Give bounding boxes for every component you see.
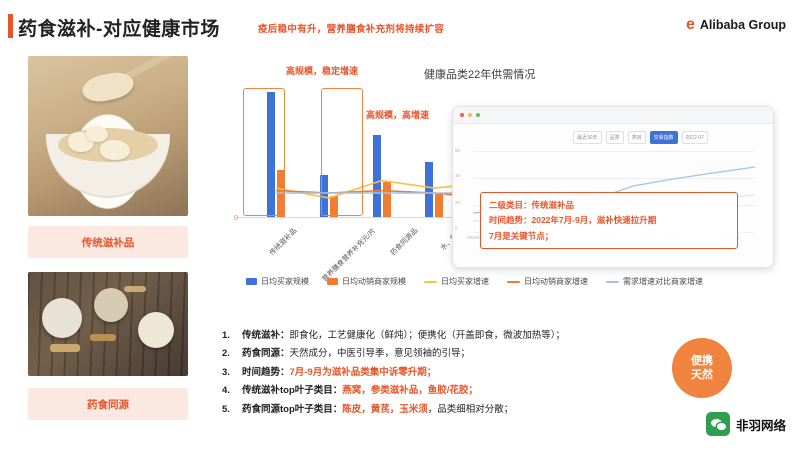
wechat-account-name: 非羽网络 [736,415,786,434]
legend-item[interactable]: 日均动销商家规模 [327,276,406,287]
inset-toolbar-select[interactable]: 最近30天 [573,131,602,144]
soup-chunk [100,140,130,160]
x-tick-text: 药食同源品 [388,226,420,258]
caption-text: 药食同源 [87,397,129,412]
inset-y-label: 60 [455,148,460,153]
brand-logo: e Alibaba Group [686,17,786,33]
insights-list: 1.传统滋补：即食化，工艺健康化（鲜炖）；便携化（开盖即食，微波加热等）；2.药… [222,330,652,422]
insight-number: 1. [222,330,235,342]
insight-text: 传统滋补：即食化，工艺健康化（鲜炖）；便携化（开盖即食，微波加热等）； [242,330,565,342]
callout-line-3: 7月是关键节点； [489,230,729,242]
chart-legend: 日均买家规模日均动销商家规模日均买家增速日均动销商家增速需求增速对比商家增速 [246,276,786,287]
inset-toolbar-tab[interactable]: 品类 [606,131,624,144]
insight-number: 3. [222,367,235,379]
caption-text: 传统滋补品 [82,235,135,250]
close-icon[interactable] [460,113,464,117]
highlight-box-2 [321,88,363,216]
page-subtitle: 疫后稳中有升，营养膳食补充剂将持续扩容 [258,21,444,35]
inset-titlebar [453,107,773,124]
legend-swatch [246,278,257,285]
photo-birds-nest-soup [28,56,188,216]
chart-title: 健康品类22年供需情况 [424,66,535,82]
legend-item[interactable]: 日均动销商家增速 [507,276,588,287]
insight-number: 2. [222,348,235,360]
highlight-label-2: 高规模，高增速 [366,108,429,121]
page-title: 药食滋补-对应健康市场 [18,14,220,41]
legend-label: 日均买家规模 [261,276,309,287]
herb-bowl [138,312,174,348]
insight-callout: 二级类目：传统滋补品 时间趋势：2022年7月-9月，滋补快速拉升期 7月是关键… [480,192,738,249]
wechat-footer: 非羽网络 [706,412,786,436]
callout-line-2: 时间趋势：2022年7月-9月，滋补快速拉升期 [489,214,729,226]
highlight-box-1 [243,88,285,216]
maximize-icon[interactable] [476,113,480,117]
x-tick-text: 传统滋补品 [267,226,299,258]
caption-traditional-tonic: 传统滋补品 [28,226,188,258]
herb-bowl [42,298,82,338]
x-tick-label: 传统滋补品 [250,220,299,238]
insight-number: 5. [222,404,235,416]
herb-slice [90,334,116,341]
legend-item[interactable]: 日均买家增速 [424,276,489,287]
inset-toolbar-select[interactable]: 2022-07 [682,131,708,144]
legend-item[interactable]: 日均买家规模 [246,276,309,287]
inset-y-label: 40 [455,173,460,178]
soup-chunk [86,126,108,142]
inset-toolbar-tab[interactable]: 类目 [628,131,646,144]
insight-row: 5.药食同源top叶子类目：陈皮，黄芪，玉米须，品类细相对分散； [222,404,652,416]
wechat-icon [706,412,730,436]
insight-text: 药食同源：天然成分，中医引导季，意见领袖的引导； [242,348,470,360]
herb-slice [50,344,80,352]
badge-portable-natural: 便携 天然 [672,338,732,398]
badge-line-2: 天然 [691,368,713,382]
insight-highlight: 7月-9月为滋补品类集中诉零升期； [290,367,437,378]
legend-label: 日均动销商家增速 [524,276,588,287]
insight-row: 3.时间趋势：7月-9月为滋补品类集中诉零升期； [222,367,652,379]
legend-label: 日均买家增速 [441,276,489,287]
insight-highlight: 陈皮，黄芪，玉米须 [342,404,428,415]
badge-line-1: 便携 [691,354,713,368]
x-tick-label: 营养膳食营养补充元/片 [299,220,371,238]
minimize-icon[interactable] [468,113,472,117]
insight-text: 传统滋补top叶子类目：燕窝，参类滋补品，鱼胶/花胶； [242,385,478,397]
callout-line-1: 二级类目：传统滋补品 [489,199,729,211]
legend-item[interactable]: 需求增速对比商家增速 [606,276,703,287]
insight-text: 时间趋势：7月-9月为滋补品类集中诉零升期； [242,367,436,379]
spoon-bowl [80,69,136,105]
photo-herbal-ingredients [28,272,188,376]
highlight-label-1: 高规模，稳定增速 [286,64,358,77]
inset-toolbar[interactable]: 最近30天品类类目交易指数2022-07 [573,131,708,144]
title-accent-bar [8,14,13,38]
x-tick-label: 药食同源品 [371,220,420,238]
inset-y-label: 20 [455,200,460,205]
insight-number: 4. [222,385,235,397]
slide-root: 药食滋补-对应健康市场 疫后稳中有升，营养膳食补充剂将持续扩容 e Alibab… [0,0,800,450]
legend-swatch [424,281,437,283]
inset-y-label: 0 [455,225,458,230]
legend-label: 日均动销商家规模 [342,276,406,287]
insight-row: 1.传统滋补：即食化，工艺健康化（鲜炖）；便携化（开盖即食，微波加热等）； [222,330,652,342]
inset-toolbar-tab-active[interactable]: 交易指数 [650,131,678,144]
legend-label: 需求增速对比商家增速 [623,276,703,287]
caption-medicine-food-homology: 药食同源 [28,388,188,420]
herb-bowl [94,288,128,322]
brand-name: Alibaba Group [700,18,786,32]
insight-highlight: 燕窝，参类滋补品，鱼胶/花胶； [342,385,478,396]
legend-swatch [606,281,619,283]
insight-row: 2.药食同源：天然成分，中医引导季，意见领袖的引导； [222,348,652,360]
herb-slice [124,286,146,292]
alibaba-mark-icon: e [686,17,695,33]
legend-swatch [327,278,338,285]
legend-swatch [507,281,520,283]
insight-text: 药食同源top叶子类目：陈皮，黄芪，玉米须，品类细相对分散； [242,404,513,416]
insight-row: 4.传统滋补top叶子类目：燕窝，参类滋补品，鱼胶/花胶； [222,385,652,397]
